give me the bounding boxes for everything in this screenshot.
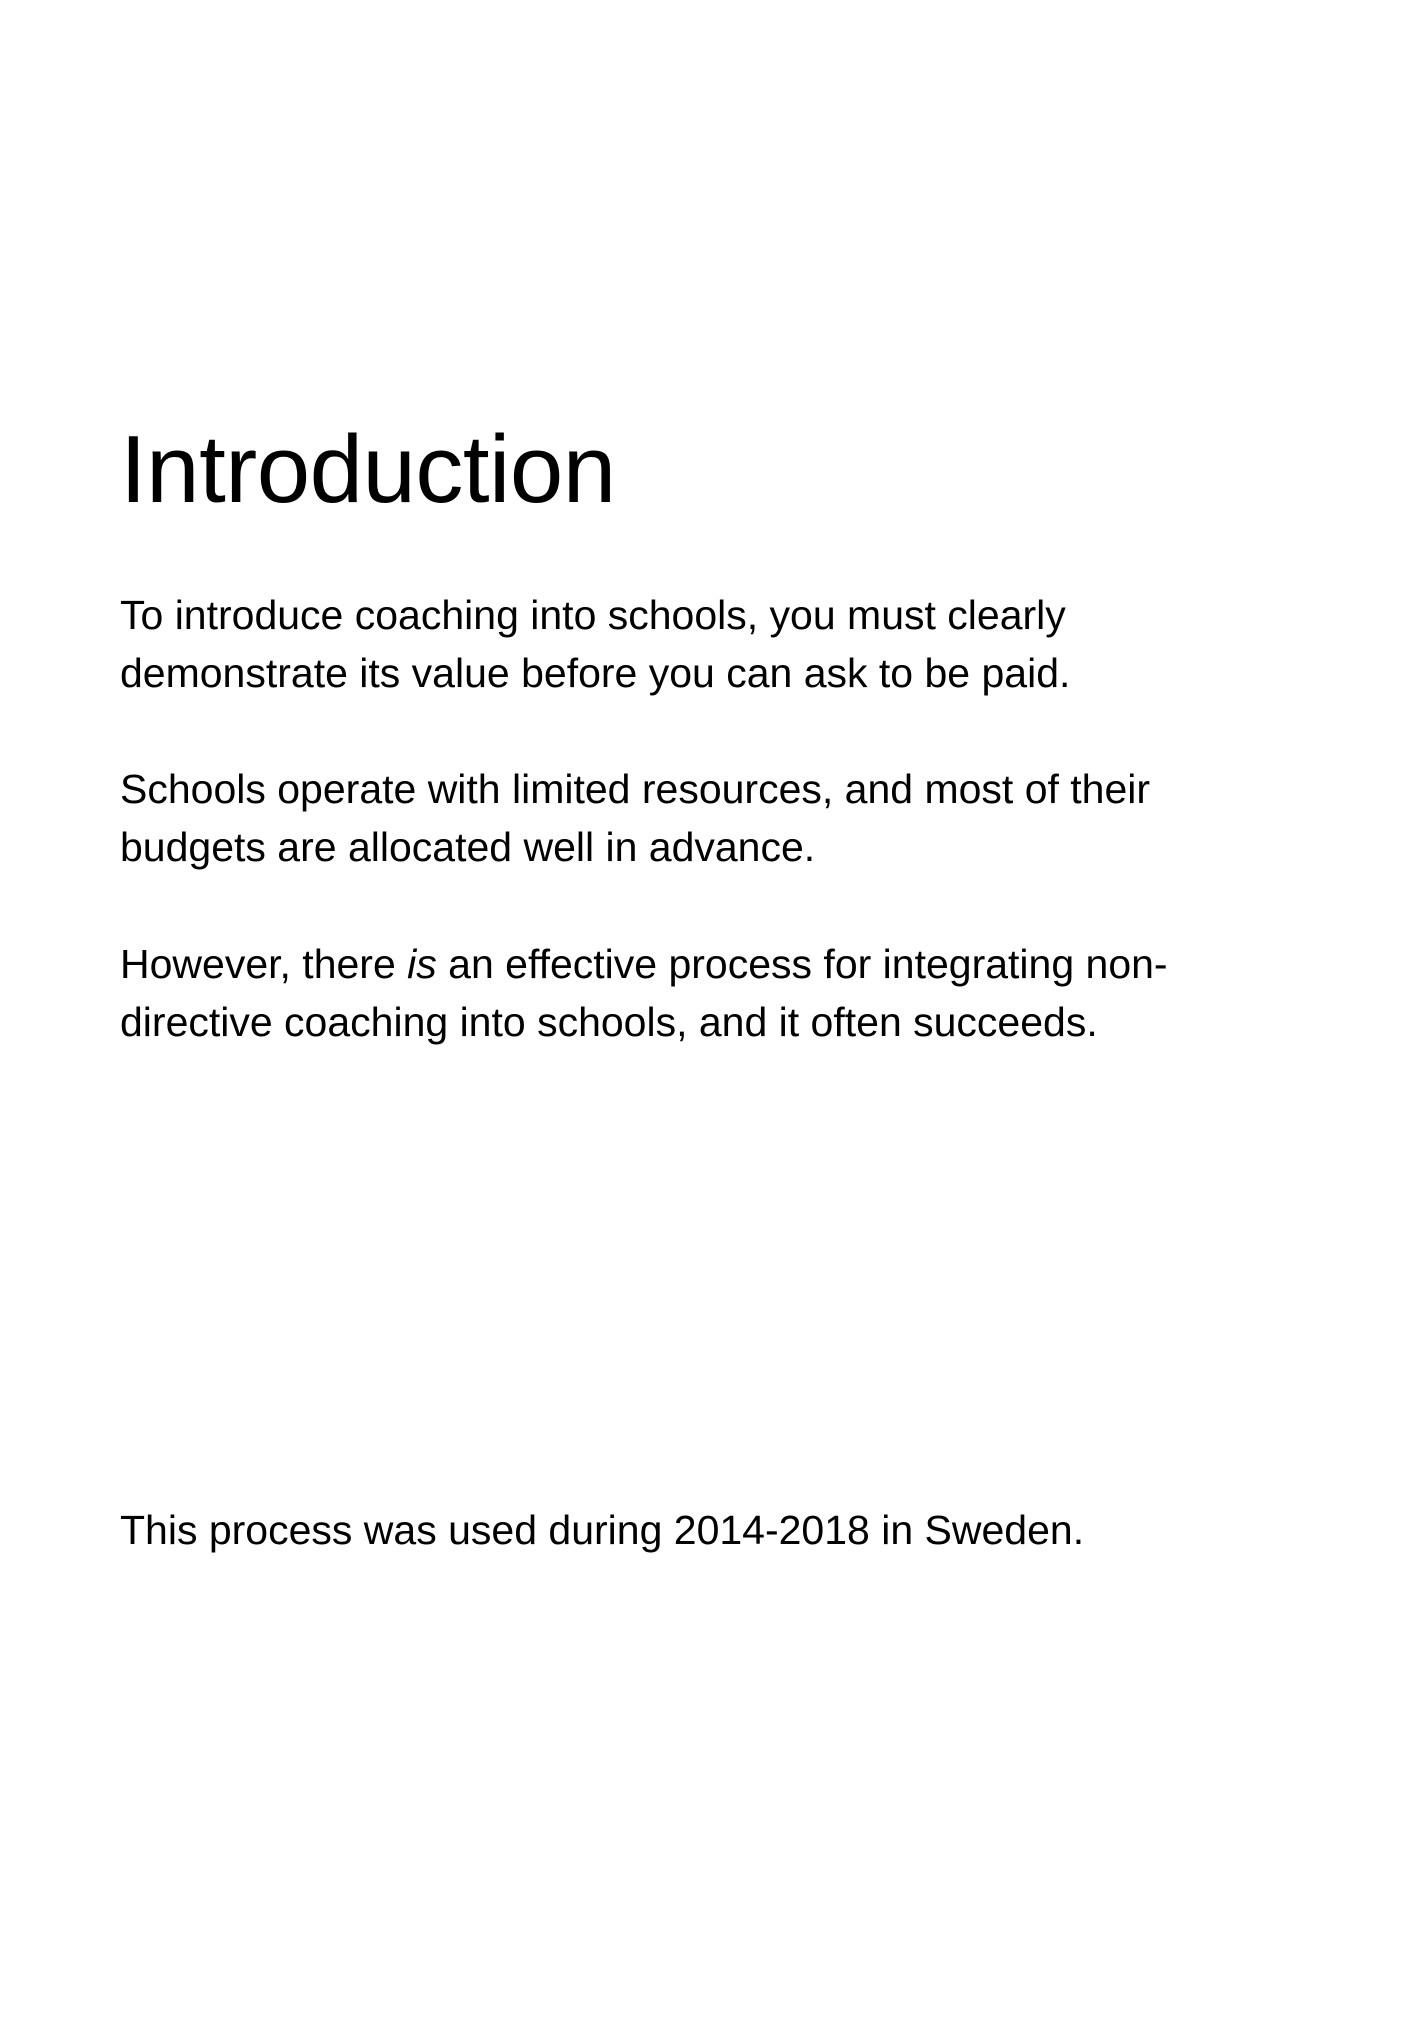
paragraph-3-lead-text: However, there (120, 941, 407, 987)
page-title: Introduction (120, 416, 616, 524)
paragraph-3-emphasis-word: is (407, 941, 437, 987)
closing-statement: This process was used during 2014-2018 i… (120, 1501, 1305, 1559)
paragraph-block-3: However, there is an effective process f… (120, 935, 1305, 1051)
paragraph-intro-value: To introduce coaching into schools, you … (120, 586, 1305, 702)
paragraph-block-2: Schools operate with limited resources, … (120, 760, 1305, 876)
paragraph-effective-process: However, there is an effective process f… (120, 935, 1305, 1051)
closing-block: This process was used during 2014-2018 i… (120, 1501, 1305, 1559)
paragraph-school-resources: Schools operate with limited resources, … (120, 760, 1305, 876)
document-page: Introduction To introduce coaching into … (0, 0, 1428, 2018)
paragraph-block-1: To introduce coaching into schools, you … (120, 586, 1305, 702)
